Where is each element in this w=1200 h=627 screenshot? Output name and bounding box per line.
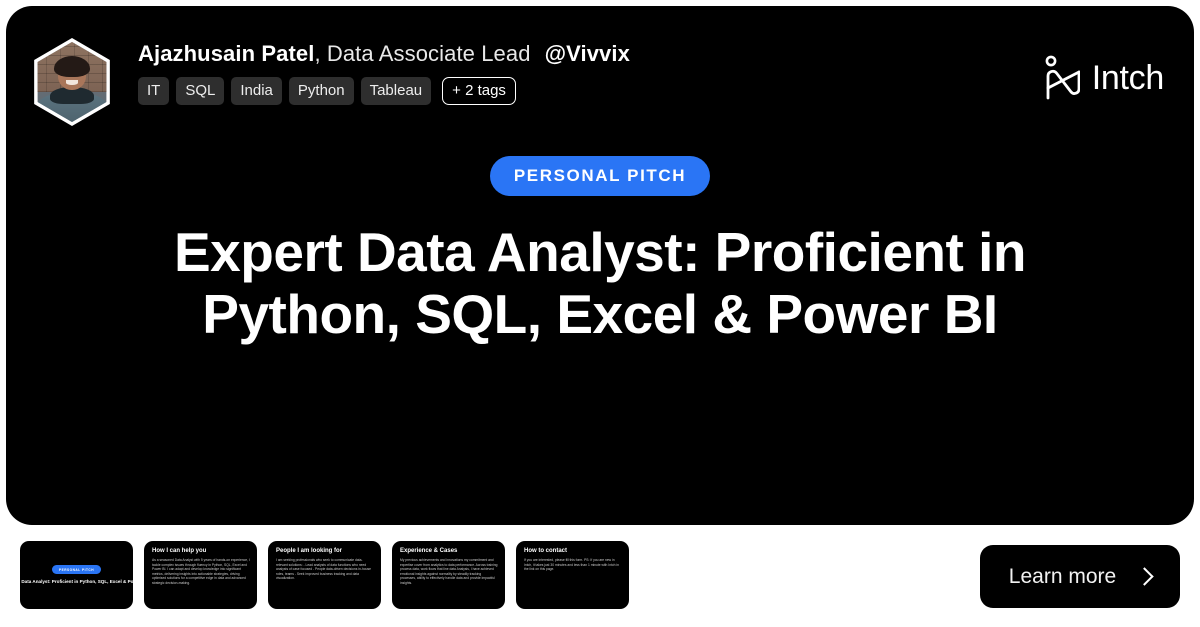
tag-chip[interactable]: Tableau xyxy=(361,77,432,105)
thumbnail-slide-3[interactable]: People I am looking for I am seeking pro… xyxy=(268,541,381,609)
chevron-right-icon xyxy=(1135,567,1153,585)
tag-chip[interactable]: Python xyxy=(289,77,354,105)
hero-content: PERSONAL PITCH Expert Data Analyst: Prof… xyxy=(6,156,1194,345)
profile-tags: IT SQL India Python Tableau + 2 tags xyxy=(138,77,630,105)
tag-chip[interactable]: SQL xyxy=(176,77,224,105)
profile-text: Ajazhusain Patel, Data Associate Lead@Vi… xyxy=(138,38,630,105)
thumbnail-title: Experience & Cases xyxy=(400,548,498,555)
thumbnail-slide-4[interactable]: Experience & Cases My previous achieveme… xyxy=(392,541,505,609)
avatar-photo xyxy=(32,42,112,122)
thumbnail-title: How to contact xyxy=(524,548,622,555)
pitch-preview-card: Ajazhusain Patel, Data Associate Lead@Vi… xyxy=(0,0,1200,627)
thumbnail-body: If you are interested, please fill this … xyxy=(524,558,622,572)
tag-chip[interactable]: IT xyxy=(138,77,169,105)
avatar xyxy=(28,38,116,126)
profile-role: , Data Associate Lead xyxy=(314,41,530,66)
hero-slide: Ajazhusain Patel, Data Associate Lead@Vi… xyxy=(6,6,1194,525)
thumbnail-slide-2[interactable]: How I can help you As a seasoned Data An… xyxy=(144,541,257,609)
thumbnail-title: How I can help you xyxy=(152,548,250,555)
hero-title: Expert Data Analyst: Proficient in Pytho… xyxy=(160,221,1040,345)
thumbnail-badge: PERSONAL PITCH xyxy=(52,565,101,574)
brand-logo: Intch xyxy=(1040,38,1164,102)
thumbnail-body: I am seeking professionals who seek to c… xyxy=(276,558,374,581)
thumbnail-title: People I am looking for xyxy=(276,548,374,555)
learn-more-label: Learn more xyxy=(1009,566,1116,587)
pitch-badge: PERSONAL PITCH xyxy=(490,156,710,196)
thumbnail-body: My previous achievements and innovations… xyxy=(400,558,498,586)
learn-more-button[interactable]: Learn more xyxy=(980,545,1180,608)
brand-name: Intch xyxy=(1092,61,1164,95)
slide-thumbnails: PERSONAL PITCH Expert Data Analyst: Prof… xyxy=(20,541,629,609)
profile-name-line: Ajazhusain Patel, Data Associate Lead@Vi… xyxy=(138,40,630,68)
thumbnail-slide-1[interactable]: PERSONAL PITCH Expert Data Analyst: Prof… xyxy=(20,541,133,609)
profile-header: Ajazhusain Patel, Data Associate Lead@Vi… xyxy=(6,6,1194,136)
more-tags-button[interactable]: + 2 tags xyxy=(442,77,516,105)
thumbnail-body: As a seasoned Data Analyst with 5 years … xyxy=(152,558,250,586)
profile-handle[interactable]: @Vivvix xyxy=(545,41,630,66)
avatar-hair xyxy=(54,56,91,77)
intch-n-mark-icon xyxy=(1040,54,1080,102)
tag-chip[interactable]: India xyxy=(231,77,282,105)
thumbnail-title: Expert Data Analyst: Proficient in Pytho… xyxy=(20,579,133,585)
profile-name: Ajazhusain Patel xyxy=(138,41,314,66)
thumbnail-slide-5[interactable]: How to contact If you are interested, pl… xyxy=(516,541,629,609)
